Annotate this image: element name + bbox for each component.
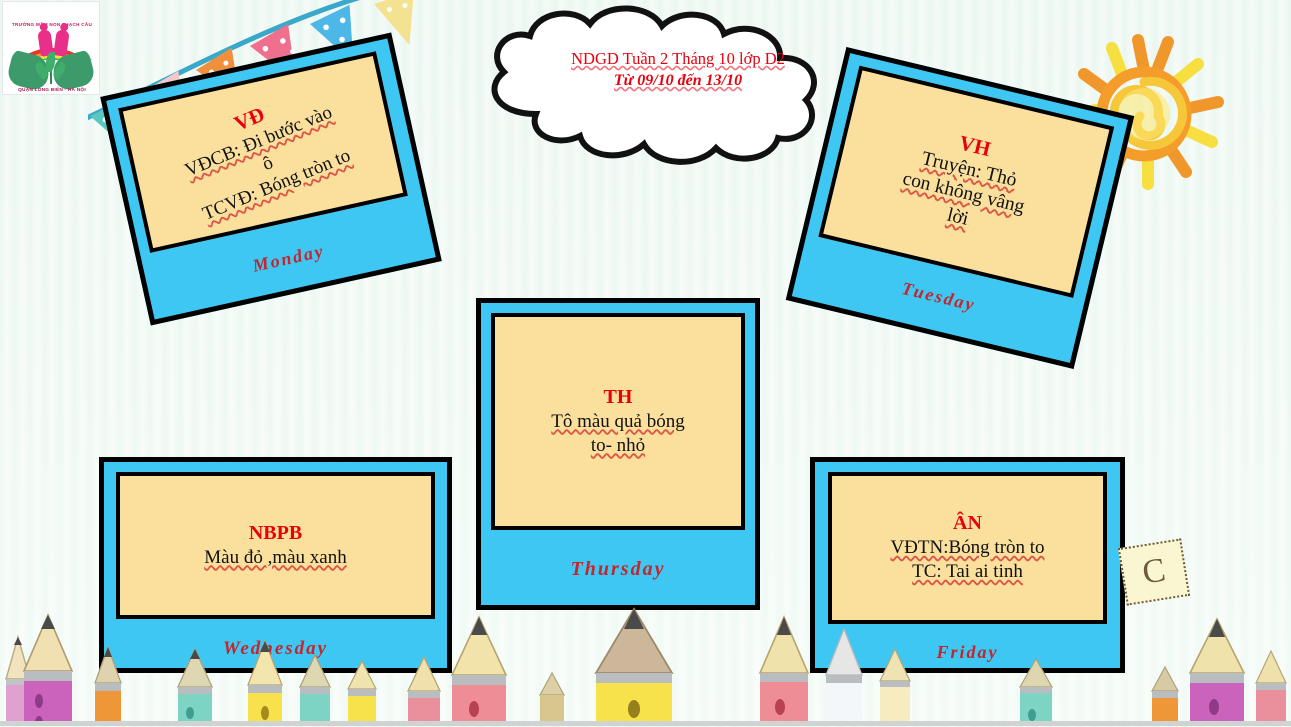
activity-line: VĐTN:Bóng tròn to bbox=[890, 536, 1044, 560]
activity-line: Màu đỏ ,màu xanh bbox=[204, 546, 346, 570]
title-line-1: NDGD Tuần 2 Tháng 10 lớp D2 bbox=[488, 48, 868, 70]
logo-text-bottom: QUẬN LONG BIÊN - HÀ NỘI bbox=[3, 88, 100, 93]
subject-code: ÂN bbox=[953, 512, 982, 535]
day-card-content-tuesday: VH Truyện: Thỏ con không vâng lời bbox=[818, 66, 1114, 298]
day-label: Thursday bbox=[481, 558, 755, 581]
colored-pencils-icon bbox=[0, 587, 1291, 722]
day-card-thursday[interactable]: TH Tô màu quả bóng to- nhỏ Thursday bbox=[476, 298, 760, 610]
activity-line: Tô màu quả bóng bbox=[551, 410, 685, 434]
school-logo: TRƯỜNG MẦM NON THẠCH CẦU QUẬN LONG BIÊN … bbox=[2, 1, 100, 95]
subject-code: NBPB bbox=[249, 522, 302, 545]
logo-text-top: TRƯỜNG MẦM NON THẠCH CẦU bbox=[3, 22, 100, 27]
title-line-2: Từ 09/10 đến 13/10 bbox=[488, 70, 868, 91]
day-card-content-thursday: TH Tô màu quả bóng to- nhỏ bbox=[491, 313, 745, 530]
slide-canvas: TRƯỜNG MẦM NON THẠCH CẦU QUẬN LONG BIÊN … bbox=[0, 0, 1291, 726]
slide-title: NDGD Tuần 2 Tháng 10 lớp D2 Từ 09/10 đến… bbox=[488, 48, 868, 92]
activity-line: to- nhỏ bbox=[591, 434, 645, 458]
activity-line: lời bbox=[945, 203, 971, 232]
activity-line: TC: Tai ai tinh bbox=[912, 560, 1023, 584]
plant-icon bbox=[43, 54, 59, 84]
subject-code: TH bbox=[604, 386, 633, 409]
bottom-divider bbox=[0, 721, 1291, 726]
